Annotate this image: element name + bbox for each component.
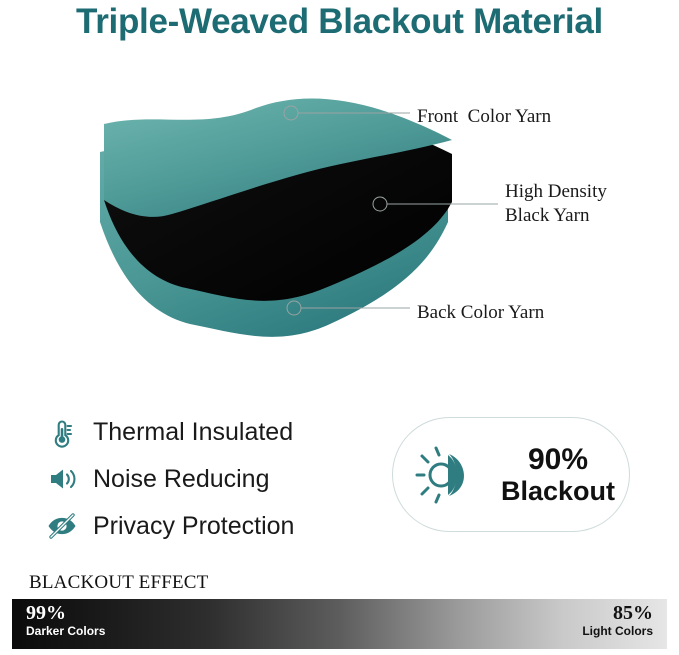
bar-right-percent: 85% bbox=[582, 603, 653, 624]
bar-left-group: 99% Darker Colors bbox=[26, 603, 105, 638]
feature-item-noise-reducing: Noise Reducing bbox=[44, 457, 374, 501]
front-yarn-label: Front Color Yarn bbox=[417, 106, 551, 128]
speaker-icon bbox=[44, 461, 80, 497]
product-infographic: Triple-Weaved Blackout Material bbox=[0, 0, 679, 655]
back-yarn-label: Back Color Yarn bbox=[417, 302, 544, 324]
feature-label-noise-reducing: Noise Reducing bbox=[93, 465, 270, 494]
feature-list: Thermal Insulated Noise Reducing bbox=[44, 410, 374, 551]
page-title: Triple-Weaved Blackout Material bbox=[0, 2, 679, 42]
black-yarn-label-line2: Black Yarn bbox=[505, 205, 589, 226]
blackout-effect-bar: 99% Darker Colors 85% Light Colors bbox=[12, 599, 667, 649]
bar-right-label: Light Colors bbox=[582, 624, 653, 638]
blackout-badge: 90% Blackout bbox=[392, 417, 630, 532]
feature-item-thermal-insulated: Thermal Insulated bbox=[44, 410, 374, 454]
thermometer-icon bbox=[44, 414, 80, 450]
bar-right-group: 85% Light Colors bbox=[582, 603, 653, 638]
eye-off-icon bbox=[44, 508, 80, 544]
bar-left-label: Darker Colors bbox=[26, 624, 105, 638]
blackout-label: Blackout bbox=[501, 476, 615, 506]
black-yarn-label-line1: High Density bbox=[505, 181, 607, 202]
bar-left-percent: 99% bbox=[26, 603, 105, 624]
black-yarn-label: High DensityBlack Yarn bbox=[505, 180, 607, 228]
blackout-badge-text: 90% Blackout bbox=[487, 443, 629, 507]
feature-item-privacy-protection: Privacy Protection bbox=[44, 504, 374, 548]
sun-blocking-icon bbox=[415, 444, 477, 506]
fabric-layers-diagram: Front Color Yarn High DensityBlack Yarn … bbox=[0, 62, 679, 362]
blackout-percent: 90% bbox=[528, 443, 588, 476]
feature-label-thermal-insulated: Thermal Insulated bbox=[93, 418, 293, 447]
feature-label-privacy-protection: Privacy Protection bbox=[93, 512, 294, 541]
blackout-effect-heading: BLACKOUT EFFECT bbox=[29, 572, 208, 594]
